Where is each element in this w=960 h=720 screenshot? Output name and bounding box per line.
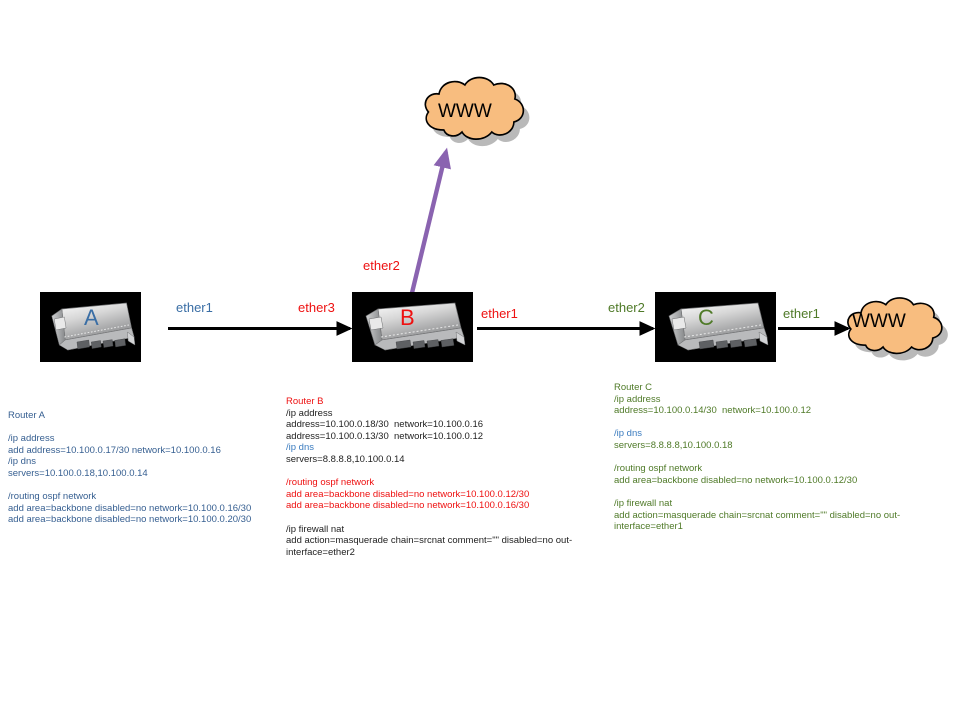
config-line-spacer [286, 466, 588, 478]
config-line: /ip dns [614, 428, 936, 440]
config-line: interface=ether1 [614, 521, 936, 533]
config-line: /routing ospf network [286, 477, 588, 489]
config-line: add area=backbone disabled=no network=10… [614, 475, 936, 487]
config-line: /routing ospf network [614, 463, 936, 475]
config-line: address=10.100.0.14/30 network=10.100.0.… [614, 405, 936, 417]
config-line: add area=backbone disabled=no network=10… [8, 503, 290, 515]
config-line: /ip address [614, 394, 936, 406]
config-line-spacer [614, 417, 936, 429]
config-line: /ip firewall nat [286, 524, 588, 536]
config-block-router-b: Router B/ip addressaddress=10.100.0.18/3… [286, 396, 588, 558]
router-c-art-group [655, 292, 776, 362]
link-label-ether2-b: ether2 [363, 259, 400, 272]
config-line: Router B [286, 396, 588, 408]
link-label-ether3-b: ether3 [298, 301, 335, 314]
config-line: add address=10.100.0.17/30 network=10.10… [8, 445, 290, 457]
config-line: /routing ospf network [8, 491, 290, 503]
config-line: servers=10.100.0.18,10.100.0.14 [8, 468, 290, 480]
router-b-art-group [352, 292, 473, 362]
config-line-spacer [8, 422, 290, 434]
config-line: interface=ether2 [286, 547, 588, 559]
config-line: add action=masquerade chain=srcnat comme… [286, 535, 588, 547]
config-line: /ip dns [286, 442, 588, 454]
config-line: /ip address [8, 433, 290, 445]
config-line-spacer [614, 452, 936, 464]
config-line: /ip dns [8, 456, 290, 468]
config-line: add area=backbone disabled=no network=10… [286, 500, 588, 512]
config-line: Router C [614, 382, 936, 394]
config-block-router-c: Router C/ip addressaddress=10.100.0.14/3… [614, 382, 936, 533]
config-line: add area=backbone disabled=no network=10… [286, 489, 588, 501]
config-line: add area=backbone disabled=no network=10… [8, 514, 290, 526]
config-line: add action=masquerade chain=srcnat comme… [614, 510, 936, 522]
cloud-www-top-label: WWW [438, 102, 492, 121]
config-line: Router A [8, 410, 290, 422]
link-label-ether1-a: ether1 [176, 301, 213, 314]
arrow-b-to-www-top [411, 152, 446, 297]
link-label-ether2-c: ether2 [608, 301, 645, 314]
config-line: servers=8.8.8.8,10.100.0.18 [614, 440, 936, 452]
cloud-www-right-label: WWW [852, 312, 906, 331]
config-block-router-a: Router A/ip addressadd address=10.100.0.… [8, 410, 290, 526]
router-a-art-group [40, 292, 141, 362]
config-line: address=10.100.0.13/30 network=10.100.0.… [286, 431, 588, 443]
network-diagram-canvas: A B C WWW WWW ether1 ether3 ether1 ether… [0, 0, 960, 720]
link-label-ether1-c: ether1 [783, 307, 820, 320]
config-line: servers=8.8.8.8,10.100.0.14 [286, 454, 588, 466]
config-line: /ip firewall nat [614, 498, 936, 510]
config-line: address=10.100.0.18/30 network=10.100.0.… [286, 419, 588, 431]
config-line-spacer [614, 486, 936, 498]
config-line-spacer [286, 512, 588, 524]
link-label-ether1-b: ether1 [481, 307, 518, 320]
config-line-spacer [8, 480, 290, 492]
config-line: /ip address [286, 408, 588, 420]
